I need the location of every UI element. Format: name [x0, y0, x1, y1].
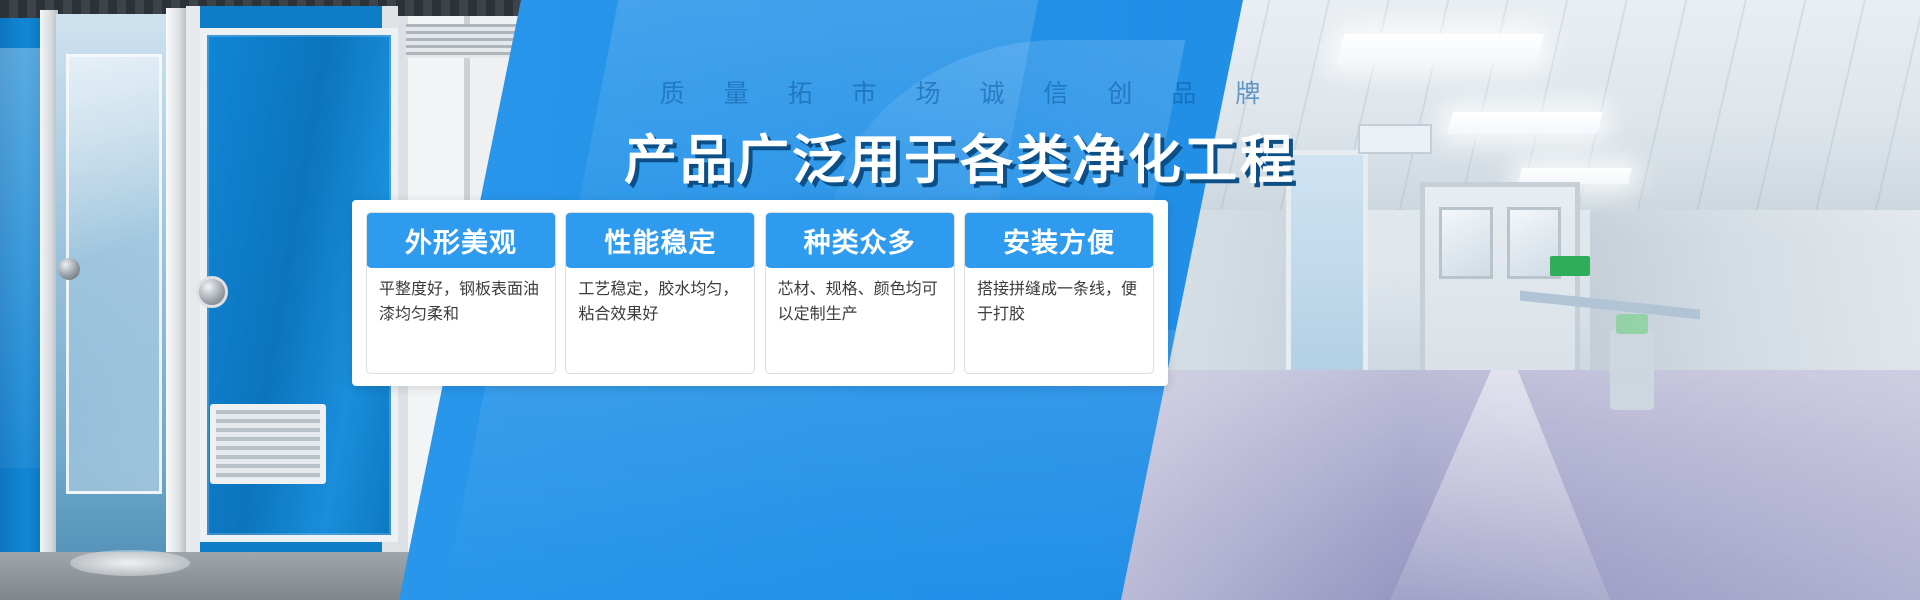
- feature-card-title: 种类众多: [804, 221, 916, 260]
- feature-card[interactable]: 性能稳定 工艺稳定，胶水均匀，粘合效果好: [565, 212, 755, 374]
- banner-subtitle: 质 量 拓 市 场 诚 信 创 品 牌: [0, 74, 1920, 110]
- feature-card-body: 芯材、规格、颜色均可以定制生产: [766, 267, 954, 327]
- feature-card-header: 安装方便: [964, 212, 1154, 268]
- door-lock-icon: [196, 276, 228, 308]
- feature-card-body: 平整度好，钢板表面油漆均匀柔和: [367, 267, 555, 327]
- ground-reflection: [70, 550, 190, 576]
- feature-card[interactable]: 外形美观 平整度好，钢板表面油漆均匀柔和: [366, 212, 556, 374]
- feature-card-body: 工艺稳定，胶水均匀，粘合效果好: [566, 267, 754, 327]
- feature-card-header: 外形美观: [366, 212, 556, 268]
- promo-banner: 质 量 拓 市 场 诚 信 创 品 牌 产品广泛用于各类净化工程 外形美观 平整…: [0, 0, 1920, 600]
- exit-sign-icon: [1550, 256, 1590, 276]
- feature-card-strip: 外形美观 平整度好，钢板表面油漆均匀柔和 性能稳定 工艺稳定，胶水均匀，粘合效果…: [352, 200, 1168, 386]
- cabin-panel-gloss: [0, 48, 42, 468]
- feature-card-title: 安装方便: [1003, 221, 1115, 260]
- feature-card[interactable]: 安装方便 搭接拼缝成一条线，便于打胶: [964, 212, 1154, 374]
- banner-headline: 产品广泛用于各类净化工程: [0, 118, 1920, 194]
- feature-card-header: 种类众多: [765, 212, 955, 268]
- feature-card-title: 性能稳定: [604, 221, 716, 260]
- feature-card-title: 外形美观: [405, 221, 517, 260]
- door-vent-grille: [210, 404, 326, 484]
- feature-card-body: 搭接拼缝成一条线，便于打胶: [965, 267, 1153, 327]
- feature-card-header: 性能稳定: [565, 212, 755, 268]
- corridor-cart: [1610, 330, 1654, 410]
- ceiling-light-1: [1336, 34, 1545, 64]
- door-handle-icon: [58, 258, 80, 280]
- feature-card[interactable]: 种类众多 芯材、规格、颜色均可以定制生产: [765, 212, 955, 374]
